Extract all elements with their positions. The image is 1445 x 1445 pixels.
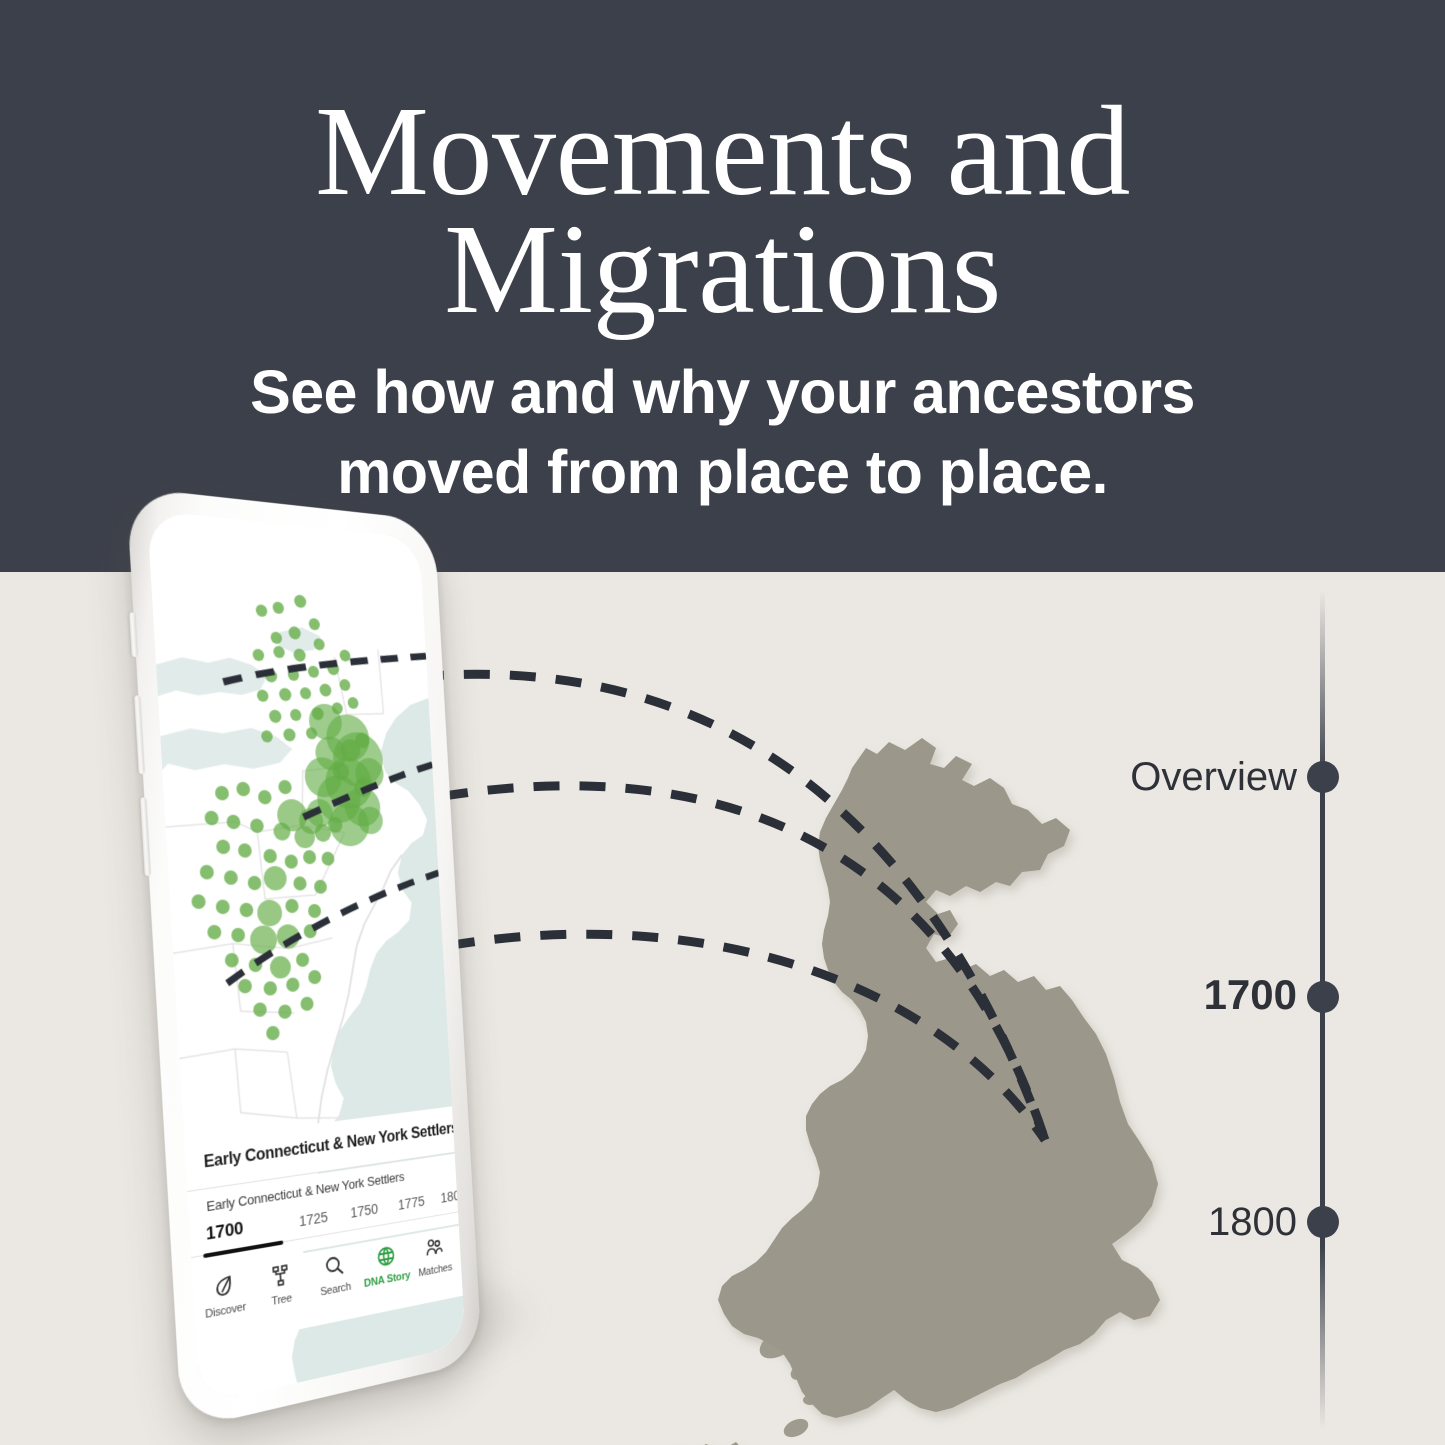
page-subtitle: See how and why your ancestors moved fro… [0,352,1445,512]
header-banner: Movements and Migrations See how and why… [0,0,1445,572]
phone-mockup: Early Connecticut & New York Settlers Ea… [150,505,570,1445]
great-lakes [153,618,328,771]
landmass-group [474,738,1160,1445]
app-year-active-underline [203,1240,283,1258]
people-icon [409,1230,459,1266]
phone-device: Early Connecticut & New York Settlers Ea… [126,487,482,1431]
page-title-line-1: Movements and [0,92,1445,210]
nav-item-matches[interactable]: Matches [409,1230,460,1281]
era-timeline[interactable]: Overview 1700 1800 [1240,572,1445,1445]
page-subtitle-line-1: See how and why your ancestors [0,352,1445,432]
nav-item-dna-story[interactable]: DNA Story [360,1238,413,1290]
era-node-1700-dot[interactable] [1307,981,1339,1013]
globe-icon [360,1238,412,1275]
era-node-overview-dot[interactable] [1307,761,1339,793]
promo-graphic: Movements and Migrations See how and why… [0,0,1445,1445]
tree-icon [252,1257,309,1296]
page-title: Movements and Migrations [0,92,1445,328]
era-node-overview-label[interactable]: Overview [1130,761,1297,793]
era-node-1800-label[interactable]: 1800 [1208,1206,1297,1238]
phone-screen[interactable]: Early Connecticut & New York Settlers Ea… [147,510,466,1405]
hebrides-islands [755,1324,896,1445]
app-year-1775[interactable]: 1775 [398,1193,426,1213]
app-year-1725[interactable]: 1725 [299,1209,329,1230]
era-node-1800-dot[interactable] [1307,1206,1339,1238]
leaf-icon [194,1266,253,1306]
great-britain-shape [718,738,1160,1418]
page-title-line-2: Migrations [0,210,1445,328]
app-year-1750[interactable]: 1750 [350,1201,379,1221]
era-node-1700-label[interactable]: 1700 [1204,979,1297,1011]
